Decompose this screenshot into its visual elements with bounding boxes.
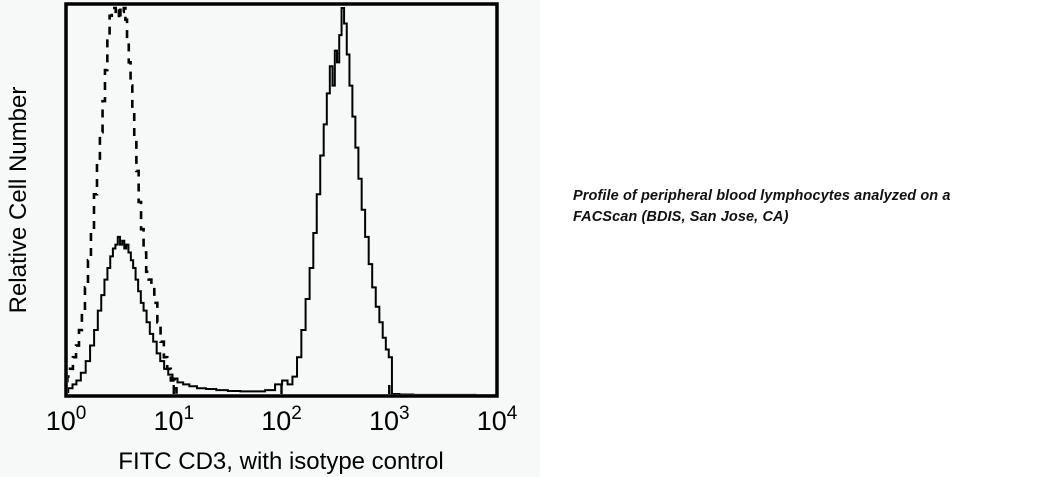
x-axis-title: FITC CD3, with isotype control	[118, 448, 443, 475]
x-axis-tick-labels: 100101102103104	[46, 403, 518, 436]
figure-panel: 100101102103104 FITC CD3, with isotype c…	[0, 0, 540, 477]
series-isotype-control	[66, 8, 176, 396]
figure-caption: Profile of peripheral blood lymphocytes …	[573, 186, 1051, 228]
caption-line-1: Profile of peripheral blood lymphocytes …	[573, 186, 1051, 207]
series-fitc-cd3	[66, 8, 497, 396]
figure-page: 100101102103104 FITC CD3, with isotype c…	[0, 0, 1051, 477]
caption-line-2: FACScan (BDIS, San Jose, CA)	[573, 207, 1051, 228]
x-tick-label-1: 101	[153, 403, 194, 436]
flow-cytometry-histogram: 100101102103104 FITC CD3, with isotype c…	[0, 0, 540, 477]
x-tick-label-4: 104	[477, 403, 518, 436]
x-tick-label-0: 100	[46, 403, 87, 436]
x-tick-label-2: 102	[261, 403, 302, 436]
x-tick-label-3: 103	[369, 403, 410, 436]
y-axis-title: Relative Cell Number	[5, 87, 32, 314]
